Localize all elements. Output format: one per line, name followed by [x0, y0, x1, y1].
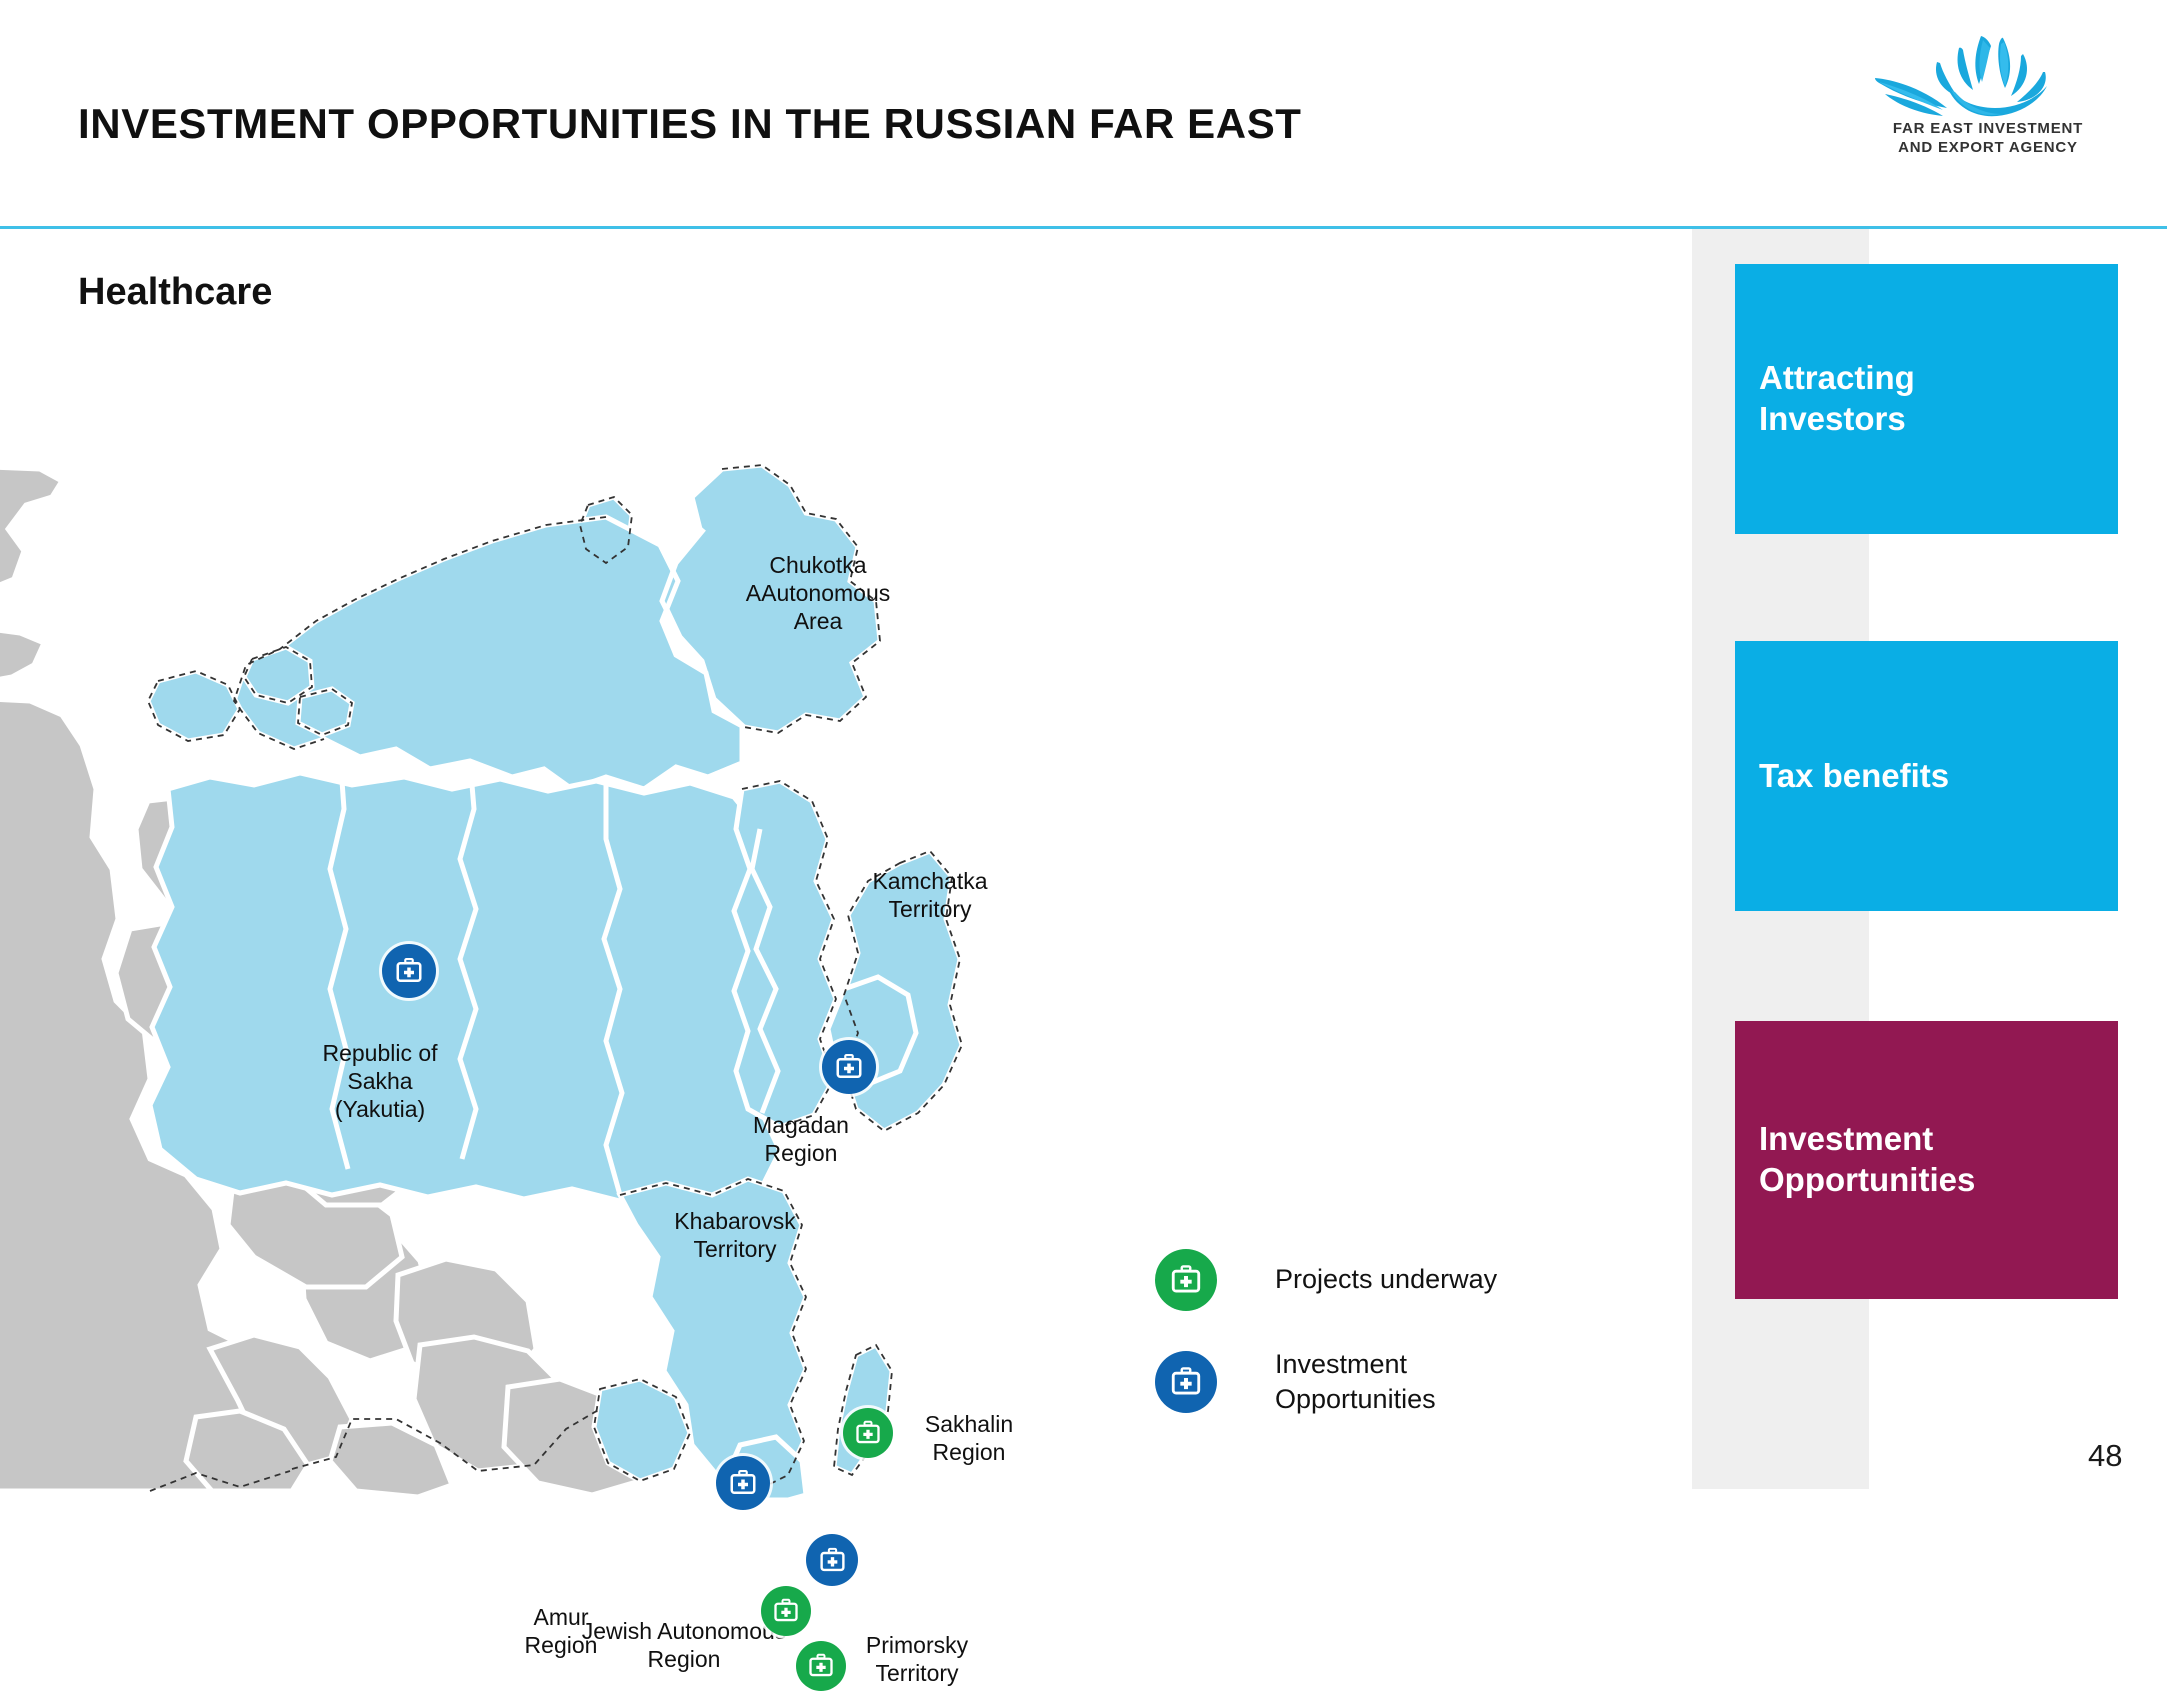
nav-card-tax-benefits[interactable]: Tax benefits: [1735, 641, 2118, 911]
map-legend: Projects underway Investment Opportuniti…: [1155, 1249, 1615, 1453]
medical-kit-icon: [834, 1052, 864, 1082]
medical-kit-icon: [854, 1419, 882, 1447]
medical-kit-icon: [728, 1468, 758, 1498]
legend-label-investment-opportunities: Investment Opportunities: [1275, 1347, 1436, 1417]
medical-kit-icon: [1169, 1263, 1203, 1297]
map-graphic: .hl { fill:#9fd9ed; stroke:#ffffff; stro…: [0, 229, 1100, 1500]
marker-kamchatka-investment[interactable]: [822, 1040, 876, 1094]
slide-body: Healthcare .hl { fill:#9fd9ed; stroke:#f…: [0, 229, 2167, 1500]
nav-card-attracting-investors[interactable]: Attracting Investors: [1735, 264, 2118, 534]
far-east-investment-agency-logo: FAR EAST INVESTMENT AND EXPORT AGENCY: [1863, 24, 2113, 174]
legend-item-investment-opportunities: Investment Opportunities: [1155, 1347, 1615, 1417]
medical-kit-icon: [394, 956, 424, 986]
marker-khabarovsk-investment[interactable]: [716, 1456, 770, 1510]
marker-sakhalin-project[interactable]: [843, 1408, 893, 1458]
nav-card-invest-line2: Opportunities: [1759, 1160, 1975, 1201]
marker-primorsky-north-investment[interactable]: [806, 1534, 858, 1586]
legend-swatch-blue: [1155, 1351, 1217, 1413]
legend-item-projects-underway: Projects underway: [1155, 1249, 1615, 1311]
medical-kit-icon: [818, 1546, 847, 1575]
marker-jewish-autonomous-project[interactable]: [761, 1586, 811, 1636]
page-title: INVESTMENT OPPORTUNITIES IN THE RUSSIAN …: [78, 100, 1302, 148]
nav-card-investment-opportunities[interactable]: Investment Opportunities: [1735, 1021, 2118, 1299]
slide-header: INVESTMENT OPPORTUNITIES IN THE RUSSIAN …: [0, 0, 2167, 228]
medical-kit-icon: [807, 1652, 835, 1680]
nav-card-tax-line1: Tax benefits: [1759, 756, 1949, 797]
logo-text-line2: AND EXPORT AGENCY: [1863, 139, 2113, 158]
nav-card-invest-line1: Investment: [1759, 1119, 1975, 1160]
map-label-primorsky: Primorsky Territory: [866, 1631, 968, 1687]
legend-swatch-green: [1155, 1249, 1217, 1311]
medical-kit-icon: [1169, 1365, 1203, 1399]
marker-sakha-investment[interactable]: [382, 944, 436, 998]
marker-primorsky-south-project[interactable]: [796, 1641, 846, 1691]
map-label-amur: Amur Region: [525, 1603, 598, 1659]
page-number: 48: [2088, 1438, 2122, 1474]
nav-card-attracting-line1: Attracting: [1759, 358, 1915, 399]
russian-far-east-map: .hl { fill:#9fd9ed; stroke:#ffffff; stro…: [0, 229, 1100, 1500]
logo-text-line1: FAR EAST INVESTMENT: [1863, 120, 2113, 139]
nav-card-attracting-line2: Investors: [1759, 399, 1915, 440]
medical-kit-icon: [772, 1597, 800, 1625]
legend-label-projects-underway: Projects underway: [1275, 1262, 1497, 1297]
map-label-jewish-autonomous: Jewish Autonomous Region: [582, 1617, 787, 1673]
lotus-flower-icon: [1863, 24, 2113, 124]
